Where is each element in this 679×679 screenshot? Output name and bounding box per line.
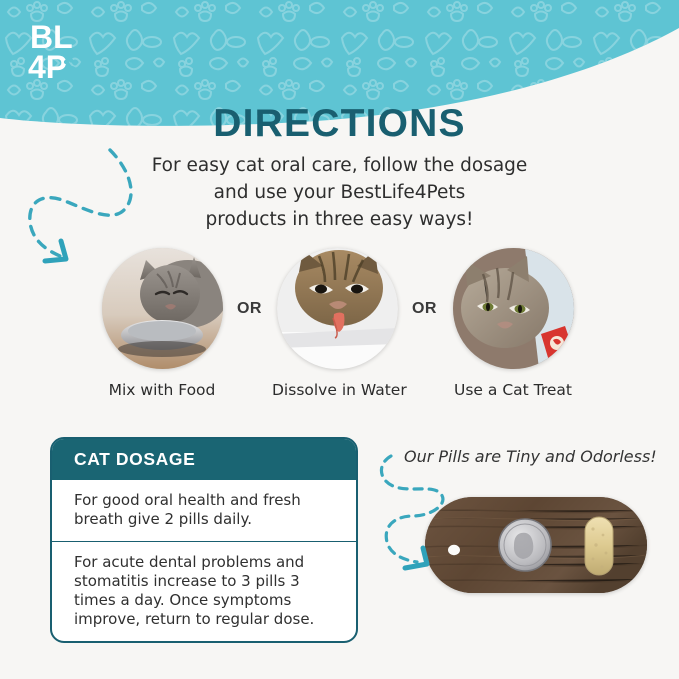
dosage-row-2: For acute dental problems and stomatitis… — [52, 541, 356, 641]
brand-logo: BL 4P — [26, 18, 88, 84]
tan-capsule — [585, 517, 613, 575]
method-dissolve-in-water[interactable]: Dissolve in Water — [272, 248, 402, 399]
separator-or-2: OR — [412, 300, 437, 318]
dashed-arrow-icon-left — [18, 148, 148, 278]
page-title: DIRECTIONS — [0, 102, 679, 146]
method-label-3: Use a Cat Treat — [448, 381, 578, 399]
photo-cat-with-treat — [453, 248, 574, 369]
photo-cat-drinking-water — [277, 248, 398, 369]
directions-infographic: BL 4P DIRECTIONS For easy cat oral care,… — [0, 0, 679, 679]
method-label-1: Mix with Food — [97, 381, 227, 399]
cat-dosage-card: CAT DOSAGE For good oral health and fres… — [50, 437, 358, 643]
separator-or-1: OR — [237, 300, 262, 318]
method-label-2: Dissolve in Water — [272, 381, 402, 399]
logo-text-4p: 4P — [28, 49, 67, 84]
method-use-cat-treat[interactable]: Use a Cat Treat — [448, 248, 578, 399]
dashed-arrow-icon-right — [375, 450, 485, 580]
dosage-row-1: For good oral health and fresh breath gi… — [52, 480, 356, 541]
dosage-card-heading: CAT DOSAGE — [52, 439, 356, 480]
